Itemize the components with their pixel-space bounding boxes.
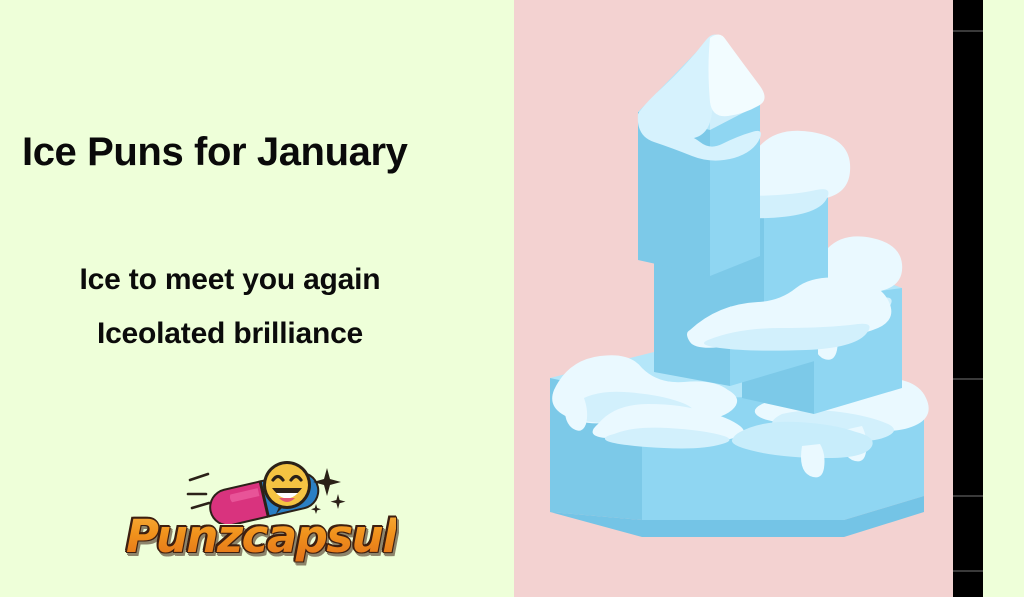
strip-divider-3: [953, 495, 983, 497]
strip-divider-4: [953, 570, 983, 572]
screenshot-canvas: Ice Puns for January Ice to meet you aga…: [0, 0, 1024, 597]
stacked-ice-blocks-illustration: [514, 0, 953, 597]
illustration-panel: [514, 0, 953, 597]
strip-divider-2: [953, 378, 983, 380]
text-panel: Ice Puns for January Ice to meet you aga…: [0, 0, 514, 597]
black-vertical-strip: [953, 0, 983, 597]
pun-item-1: Ice to meet you again: [0, 253, 460, 307]
puns-list: Ice to meet you again Iceolated brillian…: [0, 253, 460, 361]
pun-item-2: Iceolated brilliance: [0, 307, 460, 361]
brand-logo[interactable]: Punzcapsule: [126, 458, 396, 576]
brand-wordmark: Punzcapsule: [126, 510, 396, 563]
right-green-strip: [983, 0, 1024, 597]
page-title: Ice Puns for January: [22, 130, 502, 174]
strip-divider-1: [953, 30, 983, 32]
